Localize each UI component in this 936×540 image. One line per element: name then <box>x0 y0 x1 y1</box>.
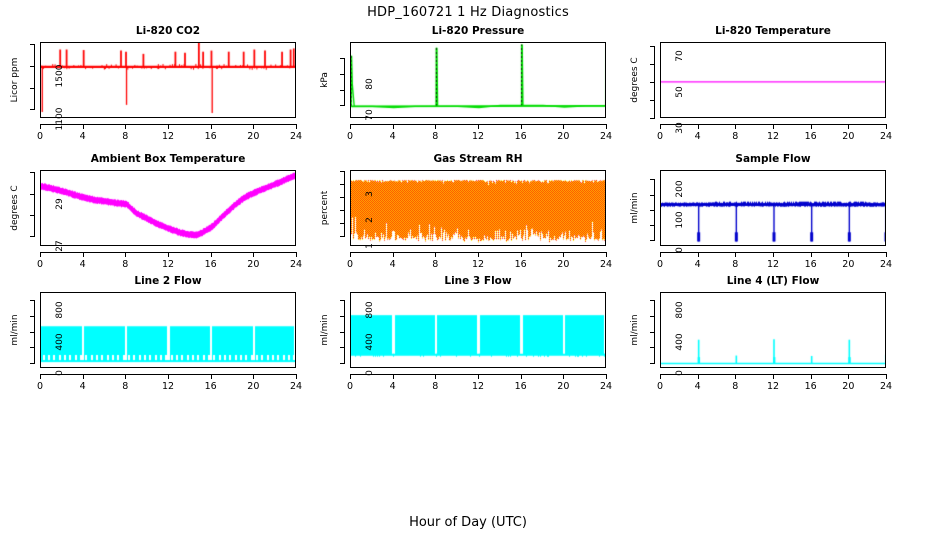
panel-title: Li-820 Temperature <box>660 25 886 37</box>
y-tick-label: 800 <box>55 293 65 327</box>
panel-title: Sample Flow <box>660 153 886 165</box>
x-tick <box>253 374 254 379</box>
x-tick-label: 24 <box>871 131 901 142</box>
x-tick <box>773 374 774 379</box>
x-tick <box>478 124 479 129</box>
x-tick-label: 16 <box>796 131 826 142</box>
x-tick <box>168 124 169 129</box>
x-tick-label: 16 <box>196 259 226 270</box>
y-tick-label: 3 <box>365 177 375 211</box>
y-tick-label: 400 <box>365 325 375 359</box>
x-tick <box>698 252 699 257</box>
x-tick-label: 12 <box>153 131 183 142</box>
y-tick-label: 27 <box>55 229 65 263</box>
y-tick <box>340 300 345 301</box>
panel-title: Line 2 Flow <box>40 275 296 287</box>
y-axis-label: degrees C <box>10 185 20 230</box>
y-tick <box>650 347 655 348</box>
y-tick <box>30 300 35 301</box>
y-tick <box>650 300 655 301</box>
x-tick <box>848 374 849 379</box>
x-tick-label: 24 <box>591 259 621 270</box>
y-tick <box>650 100 655 101</box>
plot-area-8 <box>350 292 606 368</box>
y-tick <box>30 194 35 195</box>
x-tick-label: 20 <box>238 381 268 392</box>
x-tick <box>211 252 212 257</box>
x-tick <box>848 124 849 129</box>
x-tick-label: 8 <box>110 381 140 392</box>
y-tick-label: 100 <box>675 203 685 237</box>
x-tick <box>296 374 297 379</box>
x-tick <box>350 374 351 379</box>
plot-area-1 <box>40 42 296 118</box>
y-axis-label: degrees C <box>630 57 640 102</box>
x-tick <box>435 374 436 379</box>
x-tick-label: 24 <box>871 259 901 270</box>
x-tick <box>698 374 699 379</box>
x-tick-label: 0 <box>335 131 365 142</box>
y-tick <box>340 184 345 185</box>
x-tick <box>660 124 661 129</box>
x-tick-label: 16 <box>796 381 826 392</box>
x-tick <box>211 374 212 379</box>
x-tick <box>168 252 169 257</box>
x-tick <box>40 252 41 257</box>
plot-area-2 <box>350 42 606 118</box>
x-tick-label: 24 <box>281 381 311 392</box>
x-tick-label: 20 <box>548 131 578 142</box>
x-tick-label: 4 <box>68 131 98 142</box>
x-tick <box>660 252 661 257</box>
x-tick <box>563 124 564 129</box>
y-tick <box>650 195 655 196</box>
x-tick <box>211 124 212 129</box>
x-tick-label: 8 <box>720 131 750 142</box>
y-tick-label: 400 <box>675 325 685 359</box>
figure-title: HDP_160721 1 Hz Diagnostics <box>0 5 936 20</box>
y-tick-label: 70 <box>675 39 685 73</box>
y-axis-line <box>344 171 345 236</box>
series-2 <box>351 43 606 118</box>
x-tick <box>350 124 351 129</box>
series-9 <box>661 293 886 368</box>
y-tick <box>30 109 35 110</box>
x-tick-label: 16 <box>196 381 226 392</box>
x-tick <box>296 124 297 129</box>
x-tick <box>253 124 254 129</box>
y-tick-label: 50 <box>675 75 685 109</box>
y-axis-label: ml/min <box>10 314 20 345</box>
plot-area-3 <box>660 42 886 118</box>
x-tick <box>435 124 436 129</box>
x-tick-label: 12 <box>463 381 493 392</box>
x-tick <box>735 252 736 257</box>
x-tick-label: 4 <box>378 381 408 392</box>
x-tick-label: 4 <box>683 259 713 270</box>
x-tick-label: 16 <box>506 259 536 270</box>
x-tick-label: 12 <box>153 259 183 270</box>
panel-title: Ambient Box Temperature <box>40 153 296 165</box>
y-tick <box>340 332 345 333</box>
x-tick <box>393 124 394 129</box>
x-tick <box>563 252 564 257</box>
y-tick <box>30 215 35 216</box>
y-tick <box>340 171 345 172</box>
y-tick <box>650 210 655 211</box>
x-tick-label: 12 <box>463 131 493 142</box>
x-tick <box>83 252 84 257</box>
x-tick <box>478 252 479 257</box>
x-tick <box>83 374 84 379</box>
x-tick-label: 4 <box>378 131 408 142</box>
x-tick-label: 24 <box>281 131 311 142</box>
y-tick <box>340 90 345 91</box>
x-tick-label: 16 <box>506 381 536 392</box>
y-tick <box>340 58 345 59</box>
x-tick <box>435 252 436 257</box>
panel-title: Gas Stream RH <box>350 153 606 165</box>
x-tick <box>811 252 812 257</box>
x-tick-label: 24 <box>281 259 311 270</box>
x-tick <box>350 252 351 257</box>
y-tick <box>30 363 35 364</box>
x-tick-label: 0 <box>25 259 55 270</box>
y-tick <box>650 240 655 241</box>
x-tick-label: 0 <box>335 259 365 270</box>
x-tick-label: 8 <box>420 131 450 142</box>
y-axis-label: ml/min <box>630 314 640 345</box>
y-axis-label: ml/min <box>320 314 330 345</box>
x-tick-label: 4 <box>68 259 98 270</box>
x-tick-label: 0 <box>25 131 55 142</box>
series-7 <box>41 293 296 368</box>
y-tick <box>650 179 655 180</box>
x-tick-label: 12 <box>758 381 788 392</box>
x-tick <box>40 124 41 129</box>
y-tick <box>30 88 35 89</box>
y-tick <box>340 316 345 317</box>
y-tick-label: 1500 <box>55 59 65 93</box>
y-tick <box>340 74 345 75</box>
x-tick <box>521 252 522 257</box>
y-axis-line <box>34 44 35 109</box>
x-tick-label: 0 <box>645 131 675 142</box>
x-tick-label: 8 <box>110 131 140 142</box>
y-tick <box>340 210 345 211</box>
plot-area-6 <box>660 170 886 246</box>
x-tick-label: 12 <box>153 381 183 392</box>
x-tick-label: 0 <box>335 381 365 392</box>
x-tick <box>698 124 699 129</box>
x-tick <box>393 252 394 257</box>
x-tick <box>848 252 849 257</box>
y-tick <box>340 105 345 106</box>
x-tick <box>886 252 887 257</box>
y-tick <box>650 64 655 65</box>
y-tick <box>30 236 35 237</box>
x-tick <box>393 374 394 379</box>
y-tick <box>650 82 655 83</box>
plot-area-4 <box>40 170 296 246</box>
x-tick-label: 20 <box>833 259 863 270</box>
y-tick-label: 800 <box>365 293 375 327</box>
y-axis-label: percent <box>320 191 330 225</box>
x-tick <box>521 374 522 379</box>
x-tick-label: 0 <box>25 381 55 392</box>
x-tick-label: 20 <box>238 131 268 142</box>
x-tick <box>606 124 607 129</box>
x-tick-label: 4 <box>68 381 98 392</box>
x-tick <box>83 124 84 129</box>
x-tick <box>168 374 169 379</box>
x-tick <box>125 374 126 379</box>
plot-area-7 <box>40 292 296 368</box>
panel-title: Li-820 Pressure <box>350 25 606 37</box>
x-tick-label: 12 <box>463 259 493 270</box>
y-axis-label: Licor ppm <box>10 58 20 103</box>
x-tick <box>521 124 522 129</box>
x-tick <box>773 124 774 129</box>
x-tick <box>296 252 297 257</box>
x-tick <box>253 252 254 257</box>
x-tick <box>735 124 736 129</box>
x-tick-label: 20 <box>833 381 863 392</box>
y-tick <box>650 363 655 364</box>
x-tick-label: 20 <box>833 131 863 142</box>
x-tick <box>886 374 887 379</box>
x-tick <box>125 124 126 129</box>
x-tick-label: 4 <box>683 381 713 392</box>
figure-xlabel: Hour of Day (UTC) <box>0 515 936 530</box>
series-8 <box>351 293 606 368</box>
x-tick-label: 16 <box>196 131 226 142</box>
plot-area-9 <box>660 292 886 368</box>
series-4 <box>41 171 296 246</box>
x-tick-label: 16 <box>506 131 536 142</box>
x-tick <box>735 374 736 379</box>
x-tick-label: 20 <box>548 381 578 392</box>
y-tick-label: 29 <box>55 187 65 221</box>
y-axis-label: ml/min <box>630 192 640 223</box>
x-tick <box>606 374 607 379</box>
y-tick <box>340 236 345 237</box>
panel-title: Line 3 Flow <box>350 275 606 287</box>
x-tick-label: 24 <box>591 381 621 392</box>
y-axis-line <box>344 58 345 106</box>
x-tick-label: 20 <box>238 259 268 270</box>
x-tick <box>40 374 41 379</box>
y-tick <box>340 197 345 198</box>
y-tick-label: 800 <box>675 293 685 327</box>
x-tick-label: 24 <box>591 131 621 142</box>
x-tick-label: 8 <box>110 259 140 270</box>
x-tick-label: 0 <box>645 259 675 270</box>
y-tick-label: 1100 <box>55 102 65 136</box>
x-tick-label: 8 <box>420 259 450 270</box>
y-tick <box>30 332 35 333</box>
y-tick <box>650 118 655 119</box>
x-tick-label: 4 <box>683 131 713 142</box>
x-tick-label: 24 <box>871 381 901 392</box>
series-1 <box>41 43 296 118</box>
x-tick-label: 8 <box>720 381 750 392</box>
y-tick <box>30 172 35 173</box>
x-tick <box>811 374 812 379</box>
y-tick-label: 400 <box>55 325 65 359</box>
x-tick <box>478 374 479 379</box>
x-tick <box>606 252 607 257</box>
y-tick <box>30 66 35 67</box>
y-tick <box>30 347 35 348</box>
diagnostics-figure: HDP_160721 1 Hz Diagnostics Hour of Day … <box>0 0 936 540</box>
x-tick-label: 16 <box>796 259 826 270</box>
series-5 <box>351 171 606 246</box>
plot-area-5 <box>350 170 606 246</box>
y-tick-label: 70 <box>365 98 375 132</box>
x-tick <box>125 252 126 257</box>
x-tick-label: 8 <box>720 259 750 270</box>
x-tick <box>773 252 774 257</box>
y-axis-label: kPa <box>320 72 330 88</box>
y-tick <box>340 223 345 224</box>
y-tick <box>30 316 35 317</box>
series-6 <box>661 171 886 246</box>
y-tick-label: 200 <box>675 172 685 206</box>
y-tick <box>340 347 345 348</box>
y-tick <box>30 44 35 45</box>
y-axis-line <box>34 172 35 236</box>
y-tick <box>340 363 345 364</box>
x-tick-label: 4 <box>378 259 408 270</box>
panel-title: Li-820 CO2 <box>40 25 296 37</box>
x-tick-label: 12 <box>758 259 788 270</box>
panel-title: Line 4 (LT) Flow <box>660 275 886 287</box>
x-tick <box>886 124 887 129</box>
x-tick-label: 20 <box>548 259 578 270</box>
series-3 <box>661 43 886 118</box>
y-tick <box>650 316 655 317</box>
y-tick <box>650 332 655 333</box>
x-tick-label: 12 <box>758 131 788 142</box>
x-tick <box>660 374 661 379</box>
x-tick <box>811 124 812 129</box>
x-tick <box>563 374 564 379</box>
x-tick-label: 8 <box>420 381 450 392</box>
x-tick-label: 0 <box>645 381 675 392</box>
y-tick <box>650 46 655 47</box>
y-tick-label: 80 <box>365 67 375 101</box>
y-tick <box>650 225 655 226</box>
